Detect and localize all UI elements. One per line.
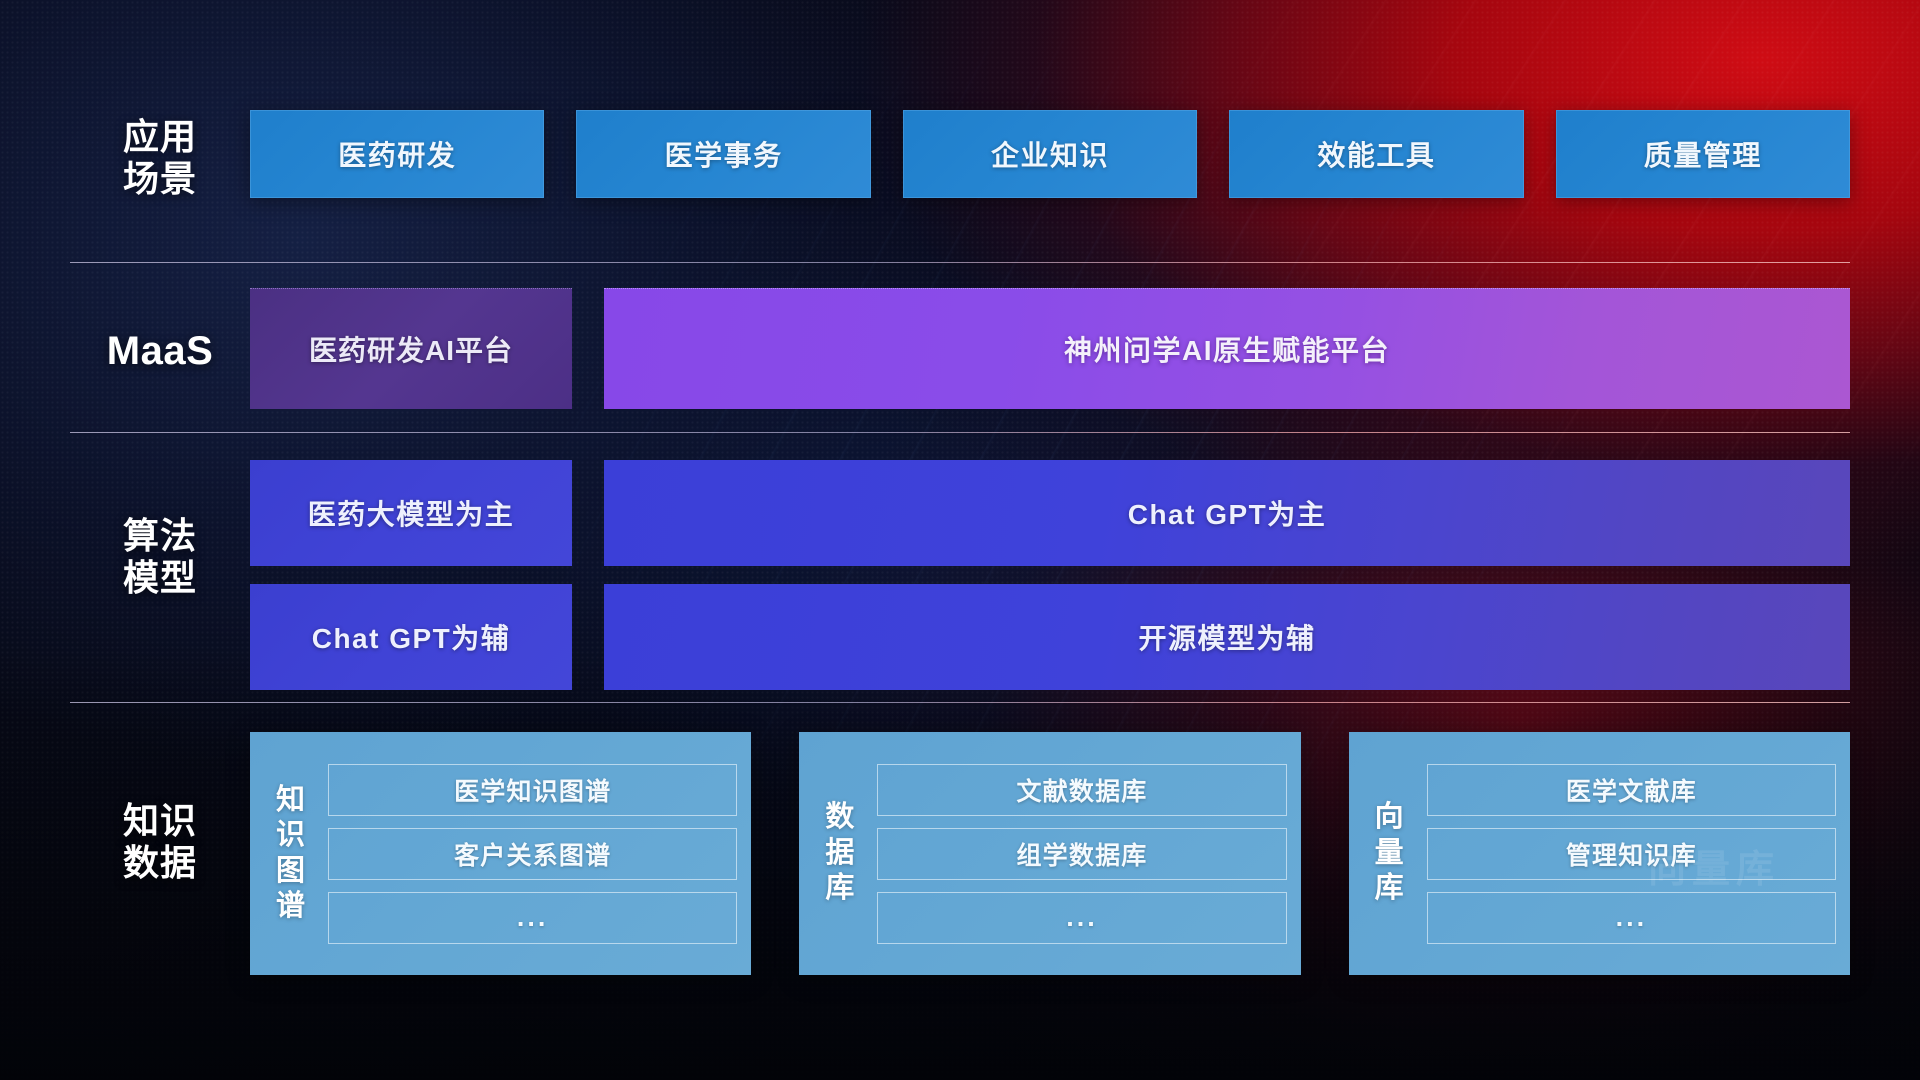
row-label-algorithms-line2: 模型 bbox=[70, 557, 250, 599]
knowledge-group-label-knowledge-graph: 知识图谱 bbox=[258, 783, 324, 925]
knowledge-items-knowledge-graph: 医学知识图谱 客户关系图谱 ... bbox=[324, 764, 737, 944]
app-card-quality-management[interactable]: 质量管理 bbox=[1556, 110, 1850, 198]
knowledge-item-literature-database[interactable]: 文献数据库 bbox=[877, 764, 1286, 816]
knowledge-row: 知识图谱 医学知识图谱 客户关系图谱 ... 数据库 文献数据库 组学数据库 .… bbox=[250, 732, 1850, 975]
app-card-medicine-rd[interactable]: 医药研发 bbox=[250, 110, 544, 198]
applications-row: 医药研发 医学事务 企业知识 效能工具 质量管理 bbox=[250, 110, 1850, 198]
row-label-applications-line2: 场景 bbox=[70, 158, 250, 200]
knowledge-group-database[interactable]: 数据库 文献数据库 组学数据库 ... bbox=[799, 732, 1300, 975]
maas-card-medicine-ai-platform[interactable]: 医药研发AI平台 bbox=[250, 288, 572, 409]
divider-applications-maas bbox=[70, 262, 1850, 263]
knowledge-item-medical-knowledge-graph[interactable]: 医学知识图谱 bbox=[328, 764, 737, 816]
knowledge-item-more-database[interactable]: ... bbox=[877, 892, 1286, 944]
row-label-algorithms-line1: 算法 bbox=[70, 515, 250, 557]
knowledge-group-knowledge-graph[interactable]: 知识图谱 医学知识图谱 客户关系图谱 ... bbox=[250, 732, 751, 975]
knowledge-group-label-database: 数据库 bbox=[807, 800, 873, 906]
divider-maas-algorithms bbox=[70, 432, 1850, 433]
algo-card-chatgpt-primary[interactable]: Chat GPT为主 bbox=[604, 460, 1850, 566]
algorithms-line-secondary: Chat GPT为辅 开源模型为辅 bbox=[250, 584, 1850, 690]
app-card-medical-affairs[interactable]: 医学事务 bbox=[576, 110, 870, 198]
knowledge-item-customer-relation-graph[interactable]: 客户关系图谱 bbox=[328, 828, 737, 880]
divider-algorithms-knowledge bbox=[70, 702, 1850, 703]
algorithms-line-primary: 医药大模型为主 Chat GPT为主 bbox=[250, 460, 1850, 566]
row-label-applications: 应用 场景 bbox=[70, 116, 250, 201]
knowledge-items-vector-store: 医学文献库 管理知识库 ... bbox=[1423, 764, 1836, 944]
knowledge-item-medical-literature-store[interactable]: 医学文献库 bbox=[1427, 764, 1836, 816]
maas-row: 医药研发AI平台 神州问学AI原生赋能平台 bbox=[250, 288, 1850, 408]
row-label-knowledge: 知识 数据 bbox=[70, 800, 250, 885]
algorithms-row: 医药大模型为主 Chat GPT为主 Chat GPT为辅 开源模型为辅 bbox=[250, 460, 1850, 690]
row-label-knowledge-line1: 知识 bbox=[70, 800, 250, 842]
knowledge-item-more-knowledge-graph[interactable]: ... bbox=[328, 892, 737, 944]
slide-canvas: 应用 场景 医药研发 医学事务 企业知识 效能工具 质量管理 MaaS 医药研发… bbox=[0, 0, 1920, 1080]
algo-card-opensource-secondary[interactable]: 开源模型为辅 bbox=[604, 584, 1850, 690]
algorithms-grid: 医药大模型为主 Chat GPT为主 Chat GPT为辅 开源模型为辅 bbox=[250, 460, 1850, 690]
row-label-algorithms: 算法 模型 bbox=[70, 515, 250, 600]
algo-card-medicine-large-model-primary[interactable]: 医药大模型为主 bbox=[250, 460, 572, 566]
row-label-maas: MaaS bbox=[70, 328, 250, 375]
architecture-stack: 应用 场景 医药研发 医学事务 企业知识 效能工具 质量管理 MaaS 医药研发… bbox=[0, 0, 1920, 1080]
app-card-enterprise-knowledge[interactable]: 企业知识 bbox=[903, 110, 1197, 198]
knowledge-item-omics-database[interactable]: 组学数据库 bbox=[877, 828, 1286, 880]
row-label-applications-line1: 应用 bbox=[70, 116, 250, 158]
knowledge-group-vector-store[interactable]: 向量库 医学文献库 管理知识库 ... bbox=[1349, 732, 1850, 975]
row-label-knowledge-line2: 数据 bbox=[70, 842, 250, 884]
knowledge-items-database: 文献数据库 组学数据库 ... bbox=[873, 764, 1286, 944]
knowledge-item-management-knowledge-store[interactable]: 管理知识库 bbox=[1427, 828, 1836, 880]
algo-card-chatgpt-secondary[interactable]: Chat GPT为辅 bbox=[250, 584, 572, 690]
knowledge-item-more-vector-store[interactable]: ... bbox=[1427, 892, 1836, 944]
knowledge-group-label-vector-store: 向量库 bbox=[1357, 800, 1423, 906]
app-card-efficiency-tools[interactable]: 效能工具 bbox=[1229, 110, 1523, 198]
maas-card-shenzhou-wenxue-platform[interactable]: 神州问学AI原生赋能平台 bbox=[604, 288, 1850, 409]
